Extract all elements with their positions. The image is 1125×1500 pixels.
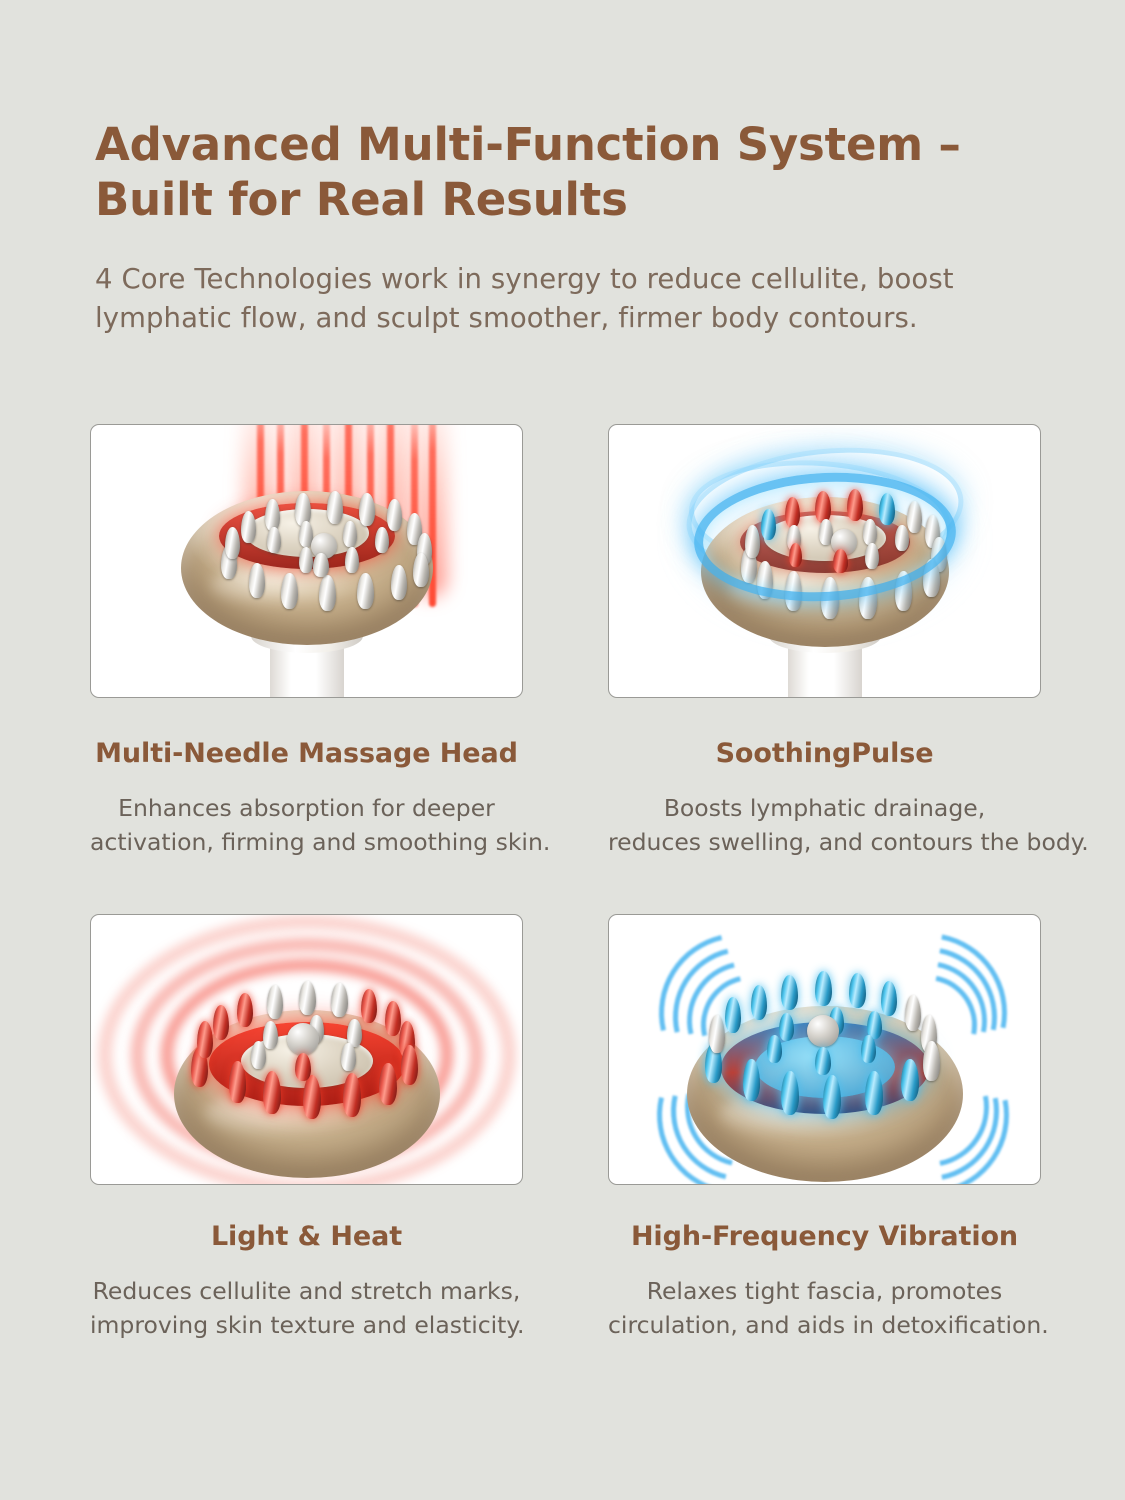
page-title-line-1: Advanced Multi-Function System –	[95, 118, 961, 171]
page-subtitle-line-1: 4 Core Technologies work in synergy to r…	[95, 263, 954, 295]
feature-description-line-2: improving skin texture and elasticity.	[90, 1308, 523, 1342]
feature-grid: Multi-Needle Massage Head Enhances absor…	[90, 424, 1035, 1342]
feature-card-high-frequency-vibration[interactable]: High-Frequency Vibration Relaxes tight f…	[608, 914, 1041, 1342]
feature-description: Relaxes tight fascia, promotes circulati…	[608, 1274, 1041, 1342]
feature-description-line-2: activation, firming and smoothing skin.	[90, 825, 523, 859]
feature-description-line-1: Relaxes tight fascia, promotes	[608, 1274, 1041, 1308]
feature-image-card	[90, 914, 523, 1185]
feature-image-card	[608, 914, 1041, 1185]
page-subtitle-line-2: lymphatic flow, and sculpt smoother, fir…	[95, 302, 918, 334]
feature-card-soothingpulse[interactable]: SoothingPulse Boosts lymphatic drainage,…	[608, 424, 1041, 859]
device-red-heat-halo-icon	[91, 915, 522, 1184]
feature-card-multi-needle-massage-head[interactable]: Multi-Needle Massage Head Enhances absor…	[90, 424, 523, 859]
feature-description: Enhances absorption for deeper activatio…	[90, 791, 523, 859]
feature-caption: SoothingPulse Boosts lymphatic drainage,…	[608, 738, 1041, 859]
feature-caption: High-Frequency Vibration Relaxes tight f…	[608, 1221, 1041, 1342]
page-title-line-2: Built for Real Results	[95, 173, 628, 226]
page-subtitle: 4 Core Technologies work in synergy to r…	[95, 260, 1025, 338]
device-blue-pulse-rings-icon	[609, 425, 1040, 697]
feature-description: Reduces cellulite and stretch marks, imp…	[90, 1274, 523, 1342]
feature-description-line-1: Reduces cellulite and stretch marks,	[90, 1274, 523, 1308]
feature-label: SoothingPulse	[608, 738, 1041, 769]
feature-card-light-and-heat[interactable]: Light & Heat Reduces cellulite and stret…	[90, 914, 523, 1342]
device-red-needle-beams-icon	[91, 425, 522, 697]
feature-image-card	[608, 424, 1041, 698]
header: Advanced Multi-Function System – Built f…	[95, 118, 1055, 338]
feature-label: Light & Heat	[90, 1221, 523, 1252]
device-blue-vibration-waves-icon	[609, 915, 1040, 1184]
feature-caption: Multi-Needle Massage Head Enhances absor…	[90, 738, 523, 859]
feature-description-line-1: Enhances absorption for deeper	[90, 791, 523, 825]
feature-description-line-2: circulation, and aids in detoxification.	[608, 1308, 1041, 1342]
feature-caption: Light & Heat Reduces cellulite and stret…	[90, 1221, 523, 1342]
feature-image-card	[90, 424, 523, 698]
infographic-page: Advanced Multi-Function System – Built f…	[0, 0, 1125, 1500]
feature-label: Multi-Needle Massage Head	[90, 738, 523, 769]
feature-description: Boosts lymphatic drainage, reduces swell…	[608, 791, 1041, 859]
feature-description-line-2: reduces swelling, and contours the body.	[608, 825, 1041, 859]
feature-description-line-1: Boosts lymphatic drainage,	[608, 791, 1041, 825]
page-title: Advanced Multi-Function System – Built f…	[95, 118, 1055, 228]
feature-label: High-Frequency Vibration	[608, 1221, 1041, 1252]
